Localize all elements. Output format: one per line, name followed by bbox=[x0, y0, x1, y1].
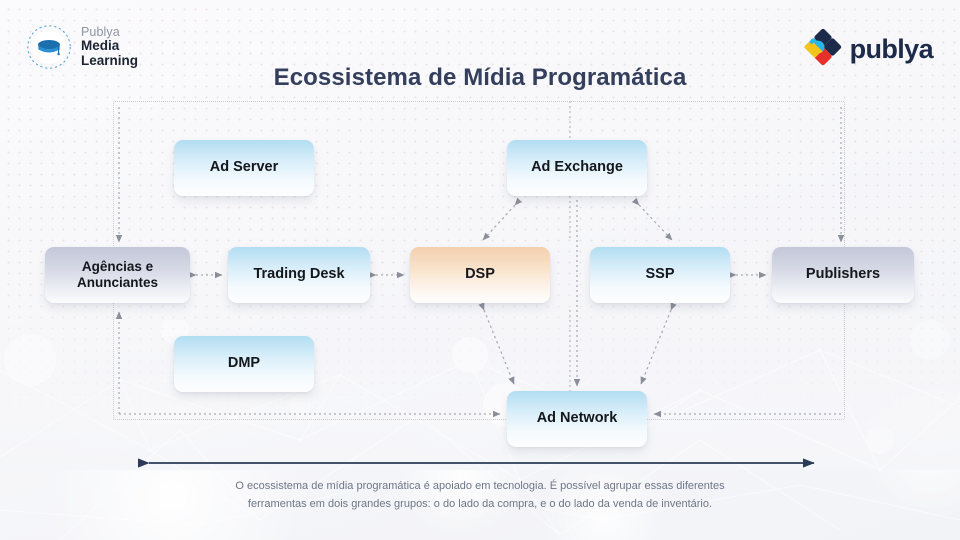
node-label: Trading Desk bbox=[253, 266, 344, 283]
node-label: DSP bbox=[465, 266, 495, 283]
node-label: SSP bbox=[645, 266, 674, 283]
node-ssp[interactable]: SSP bbox=[590, 247, 730, 303]
slide-canvas: Publya Media Learning publya Ecossistema bbox=[0, 0, 960, 540]
node-ad-network[interactable]: Ad Network bbox=[507, 391, 647, 447]
node-label: Agências e Anunciantes bbox=[77, 259, 158, 291]
node-label: Publishers bbox=[806, 266, 880, 283]
node-ad-exchange[interactable]: Ad Exchange bbox=[507, 140, 647, 196]
node-agencias-anunciantes[interactable]: Agências e Anunciantes bbox=[45, 247, 190, 303]
slide-caption: O ecossistema de mídia programática é ap… bbox=[180, 478, 780, 514]
caption-line-1: O ecossistema de mídia programática é ap… bbox=[180, 478, 780, 496]
node-trading-desk[interactable]: Trading Desk bbox=[228, 247, 370, 303]
node-dsp[interactable]: DSP bbox=[410, 247, 550, 303]
ecosystem-diagram: Ad Server Ad Exchange Agências e Anuncia… bbox=[0, 0, 960, 540]
node-ad-server[interactable]: Ad Server bbox=[174, 140, 314, 196]
node-label: Ad Network bbox=[537, 410, 618, 427]
node-label: DMP bbox=[228, 355, 260, 372]
node-publishers[interactable]: Publishers bbox=[772, 247, 914, 303]
node-dmp[interactable]: DMP bbox=[174, 336, 314, 392]
caption-line-2: ferramentas em dois grandes grupos: o do… bbox=[180, 496, 780, 514]
node-label: Ad Exchange bbox=[531, 159, 623, 176]
node-label: Ad Server bbox=[210, 159, 279, 176]
